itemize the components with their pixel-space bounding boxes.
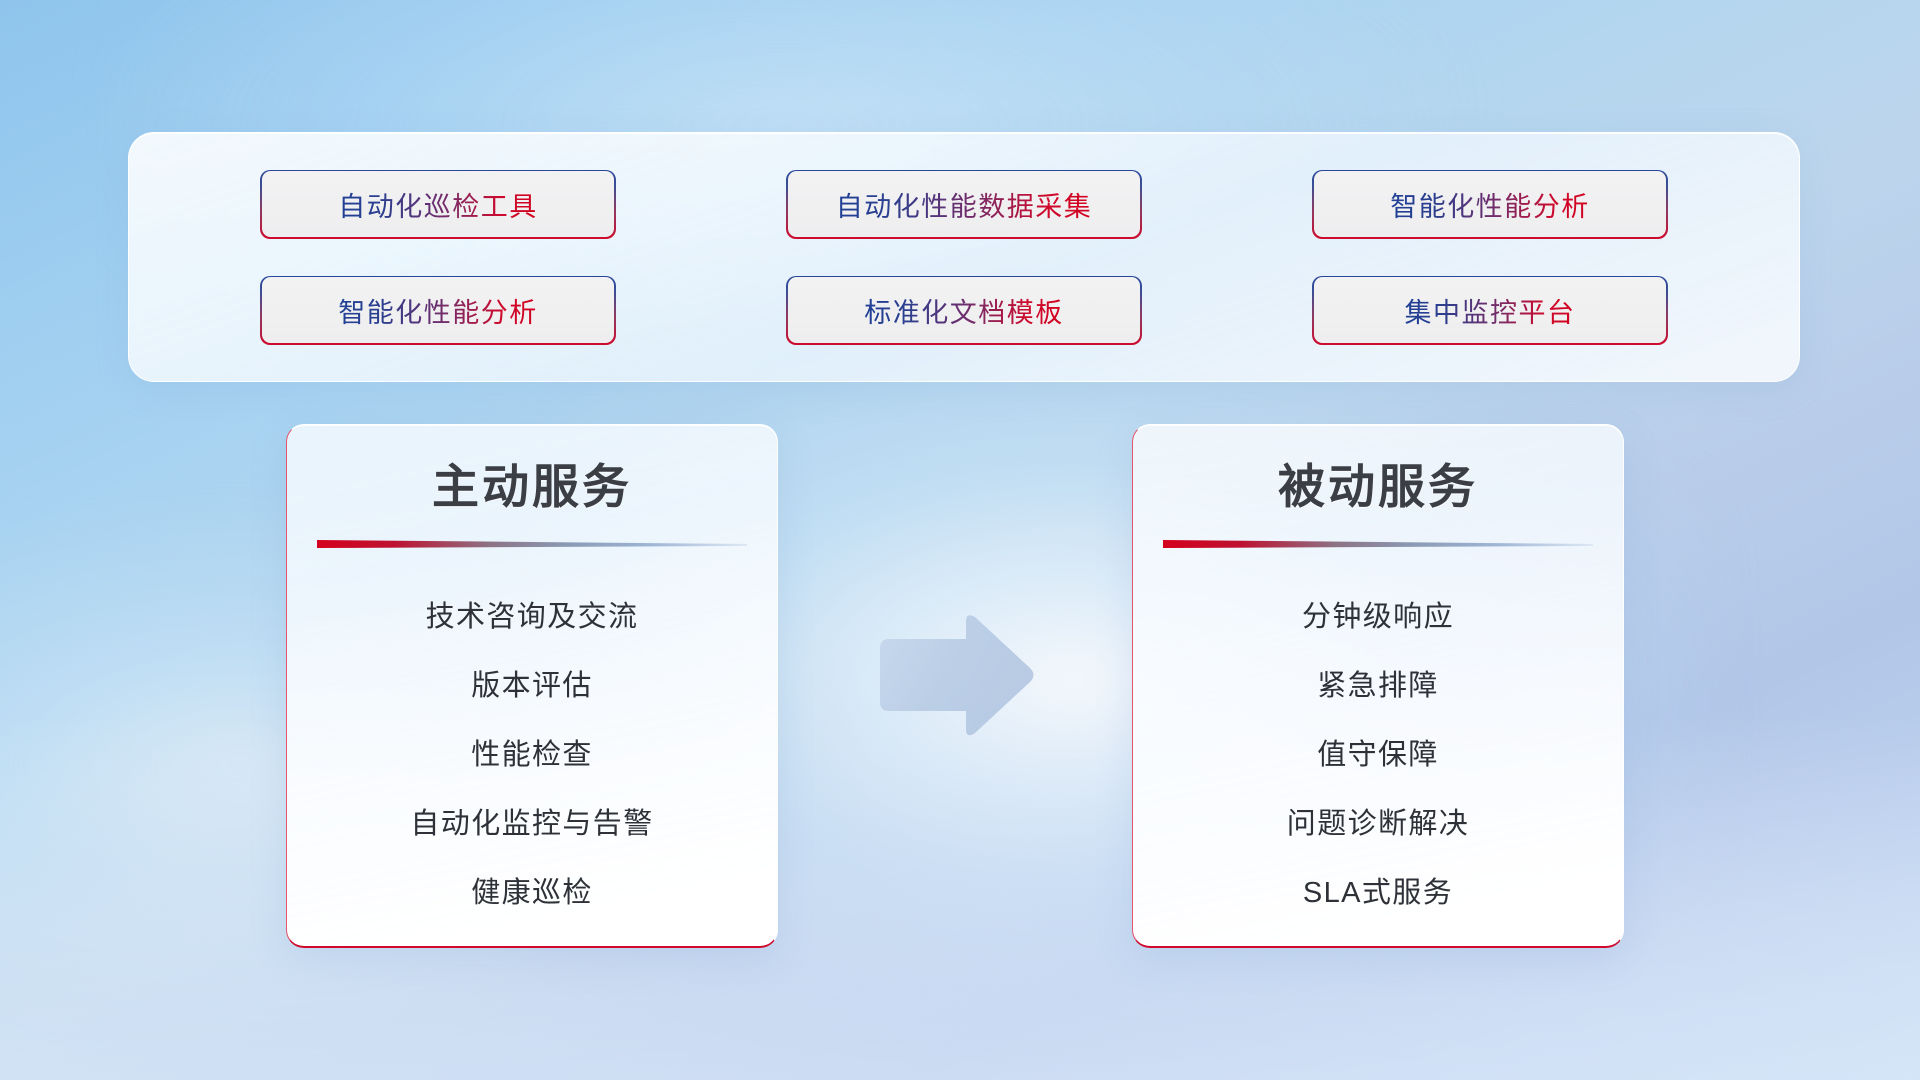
capability-pill-4-label: 智能化性能分析 — [338, 291, 538, 330]
proactive-service-divider — [317, 538, 747, 549]
capability-pill-2[interactable]: 自动化性能数据采集 — [786, 170, 1142, 239]
capability-pill-4-surface: 智能化性能分析 — [262, 277, 615, 343]
capability-pill-5[interactable]: 标准化文档模板 — [786, 276, 1142, 345]
reactive-list-item-4[interactable]: 问题诊断解决 — [1287, 790, 1469, 859]
proactive-service-title: 主动服务 — [432, 463, 632, 510]
capability-pill-1[interactable]: 自动化巡检工具 — [260, 170, 616, 239]
capability-pill-3-label: 智能化性能分析 — [1390, 185, 1590, 224]
capability-pill-6-label: 集中监控平台 — [1405, 291, 1576, 330]
proactive-list-item-4[interactable]: 自动化监控与告警 — [410, 790, 653, 859]
capability-pill-3[interactable]: 智能化性能分析 — [1312, 170, 1668, 239]
capability-pill-5-surface: 标准化文档模板 — [788, 277, 1141, 343]
capability-panel: 自动化巡检工具 自动化性能数据采集 智能化性能分析 智能化性能分析 — [128, 132, 1800, 382]
reactive-service-divider — [1163, 538, 1593, 549]
capability-pill-1-surface: 自动化巡检工具 — [262, 171, 615, 237]
capability-pill-2-surface: 自动化性能数据采集 — [788, 171, 1141, 237]
capability-pill-2-label: 自动化性能数据采集 — [836, 185, 1093, 224]
capability-pill-5-label: 标准化文档模板 — [864, 291, 1064, 330]
proactive-service-card[interactable]: 主动服务 技术咨询及交流 版本评估 性能检查 — [286, 424, 778, 948]
reactive-list-item-3[interactable]: 值守保障 — [1317, 721, 1439, 790]
reactive-service-title: 被动服务 — [1278, 463, 1478, 510]
reactive-list-item-2[interactable]: 紧急排障 — [1317, 652, 1439, 721]
proactive-service-list: 技术咨询及交流 版本评估 性能检查 自动化监控与告警 健康巡检 — [287, 583, 777, 928]
reactive-service-card[interactable]: 被动服务 分钟级响应 紧急排障 值守保障 — [1132, 424, 1624, 948]
reactive-service-list: 分钟级响应 紧急排障 值守保障 问题诊断解决 SLA式服务 — [1133, 583, 1623, 928]
capability-pill-grid: 自动化巡检工具 自动化性能数据采集 智能化性能分析 智能化性能分析 — [129, 133, 1799, 381]
capability-pill-6-surface: 集中监控平台 — [1314, 277, 1667, 343]
capability-pill-6[interactable]: 集中监控平台 — [1312, 276, 1668, 345]
capability-pill-4[interactable]: 智能化性能分析 — [260, 276, 616, 345]
capability-pill-1-label: 自动化巡检工具 — [338, 185, 538, 224]
arrow-right-icon — [872, 612, 1036, 740]
reactive-list-item-1[interactable]: 分钟级响应 — [1302, 583, 1454, 652]
diagram-stage: 自动化巡检工具 自动化性能数据采集 智能化性能分析 智能化性能分析 — [0, 0, 1920, 1080]
proactive-list-item-2[interactable]: 版本评估 — [471, 652, 593, 721]
proactive-list-item-3[interactable]: 性能检查 — [471, 721, 593, 790]
proactive-list-item-5[interactable]: 健康巡检 — [471, 859, 593, 928]
proactive-list-item-1[interactable]: 技术咨询及交流 — [426, 583, 639, 652]
reactive-list-item-5[interactable]: SLA式服务 — [1303, 859, 1453, 928]
capability-pill-3-surface: 智能化性能分析 — [1314, 171, 1667, 237]
